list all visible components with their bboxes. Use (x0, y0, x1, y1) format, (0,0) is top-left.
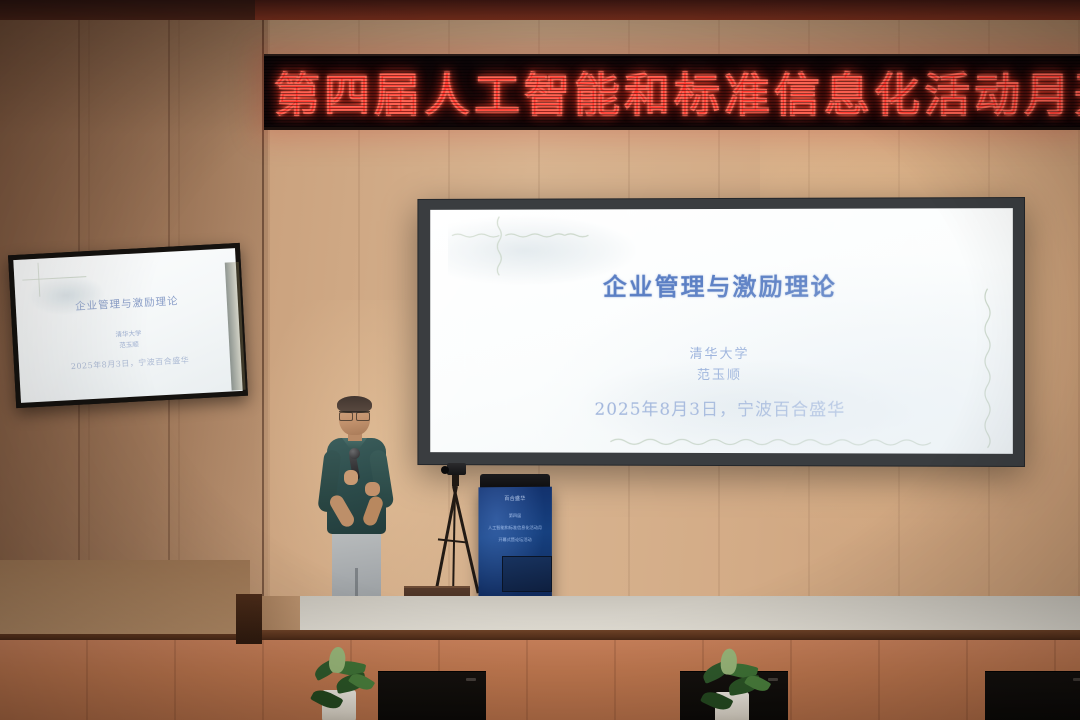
presenter-hand-right (365, 482, 380, 496)
wall-monitor-screen: 企业管理与激励理论 清华大学 范玉顺 2025年8月3日，宁波百合盛华 (13, 248, 242, 403)
conference-hall-photo: 第四届人工智能和标准信息化活动月开幕式 企业管理与激励理论 清华大学 范玉顺 2… (0, 0, 1080, 720)
slide-decoration-wave-bottom (608, 435, 939, 450)
stair-top-post (236, 594, 262, 644)
led-banner: 第四届人工智能和标准信息化活动月开幕式 (264, 54, 1080, 130)
podium-line-3: 开幕式暨论坛活动 (478, 537, 551, 543)
slide-date-location: 2025年8月3日，宁波百合盛华 (430, 395, 1013, 421)
podium-logo-text: 百合盛华 (478, 495, 551, 503)
eyeglasses-icon (339, 411, 370, 418)
tripod-head (452, 474, 459, 486)
slide-organization: 清华大学 (430, 343, 1013, 362)
video-camera (447, 463, 466, 475)
camera-lens-icon (441, 466, 449, 474)
confidence-monitor (502, 556, 552, 592)
led-banner-text: 第四届人工智能和标准信息化活动月开幕式 (274, 59, 1080, 125)
microphone-head-icon (349, 448, 360, 459)
slide-title: 企业管理与激励理论 (430, 267, 1013, 303)
podium-line-2: 人工智能和标准信息化活动月 (478, 525, 551, 531)
monitor-slide-date: 2025年8月3日，宁波百合盛华 (19, 352, 241, 375)
projection-screen-frame: 企业管理与激励理论 清华大学 范玉顺 2025年8月3日，宁波百合盛华 (417, 197, 1025, 467)
presenter-hand-left (344, 470, 358, 485)
stage-speaker-grille (378, 671, 486, 720)
stage-speaker-grille (985, 671, 1080, 720)
presentation-slide: 企业管理与激励理论 清华大学 范玉顺 2025年8月3日，宁波百合盛华 (430, 208, 1013, 454)
podium-line-1: 第四届 (478, 513, 551, 519)
stair-side-wall (0, 560, 250, 634)
slide-author: 范玉顺 (430, 364, 1013, 384)
wall-mounted-monitor: 企业管理与激励理论 清华大学 范玉顺 2025年8月3日，宁波百合盛华 (8, 243, 248, 408)
